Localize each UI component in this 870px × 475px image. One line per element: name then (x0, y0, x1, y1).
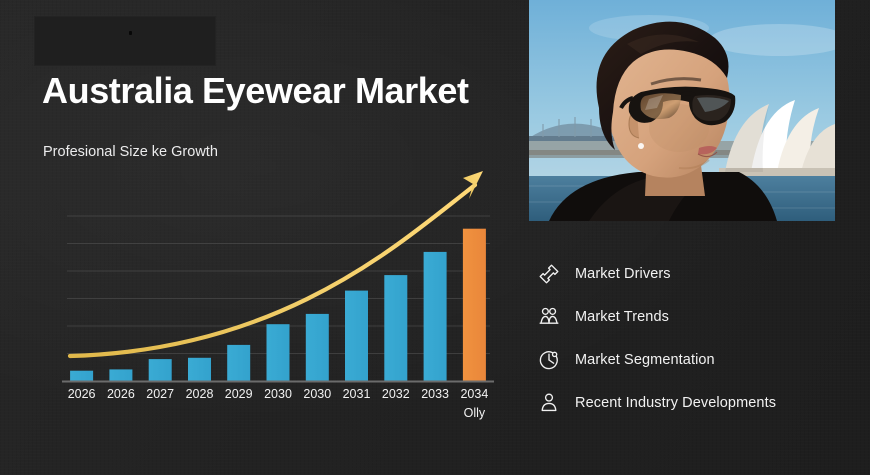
chart-tick-label: 2027 (146, 387, 174, 401)
chart-tick-sublabel: Olly (464, 406, 486, 420)
chart-bar (267, 324, 290, 381)
chart-bar (149, 359, 172, 381)
list-item-label: Market Drivers (575, 266, 671, 282)
chart-bar (227, 345, 250, 381)
chart-bar (424, 252, 447, 381)
list-item-label: Market Segmentation (575, 352, 715, 368)
chart-tick-labels: 2026202620272028202920302030203120322033… (68, 387, 489, 420)
chart-bar (70, 371, 93, 381)
bar-chart-svg: 2026202620272028202920302030203120322033… (0, 0, 520, 475)
hero-photo-illustration (529, 0, 835, 221)
chart-bar (345, 291, 368, 381)
list-item-recent-industry-developments[interactable]: Recent Industry Developments (536, 381, 856, 424)
chart-bar (306, 314, 329, 381)
people-group-icon (536, 304, 562, 330)
chart-tick-label: 2028 (186, 387, 214, 401)
chart-tick-label: 2026 (68, 387, 96, 401)
pie-chart-icon (536, 347, 562, 373)
chart-tick-label: 2030 (264, 387, 292, 401)
chart-bar-highlight (463, 229, 486, 381)
list-item-market-segmentation[interactable]: Market Segmentation (536, 338, 856, 381)
feature-list: Market Drivers Market Trends (536, 252, 856, 424)
hero-photo (529, 0, 835, 221)
list-item-label: Market Trends (575, 309, 669, 325)
slide-canvas: Australia Eyewear Market Profesional Siz… (0, 0, 870, 475)
chart-tick-label: 2029 (225, 387, 253, 401)
chart-tick-label: 2032 (382, 387, 410, 401)
person-icon (536, 390, 562, 416)
pushpin-icon (536, 261, 562, 287)
growth-arrow-head (463, 171, 483, 199)
chart-bar (109, 369, 132, 381)
chart-tick-label: 2033 (421, 387, 449, 401)
chart-bars (70, 229, 486, 381)
chart-tick-label: 2026 (107, 387, 135, 401)
chart-bar (384, 275, 407, 381)
list-item-market-drivers[interactable]: Market Drivers (536, 252, 856, 295)
chart-bar (188, 358, 211, 381)
list-item-label: Recent Industry Developments (575, 395, 776, 411)
list-item-market-trends[interactable]: Market Trends (536, 295, 856, 338)
chart-tick-label: 2031 (343, 387, 371, 401)
bar-chart: 2026202620272028202920302030203120322033… (0, 0, 520, 475)
chart-tick-label: 2034 (460, 387, 488, 401)
chart-tick-label: 2030 (303, 387, 331, 401)
